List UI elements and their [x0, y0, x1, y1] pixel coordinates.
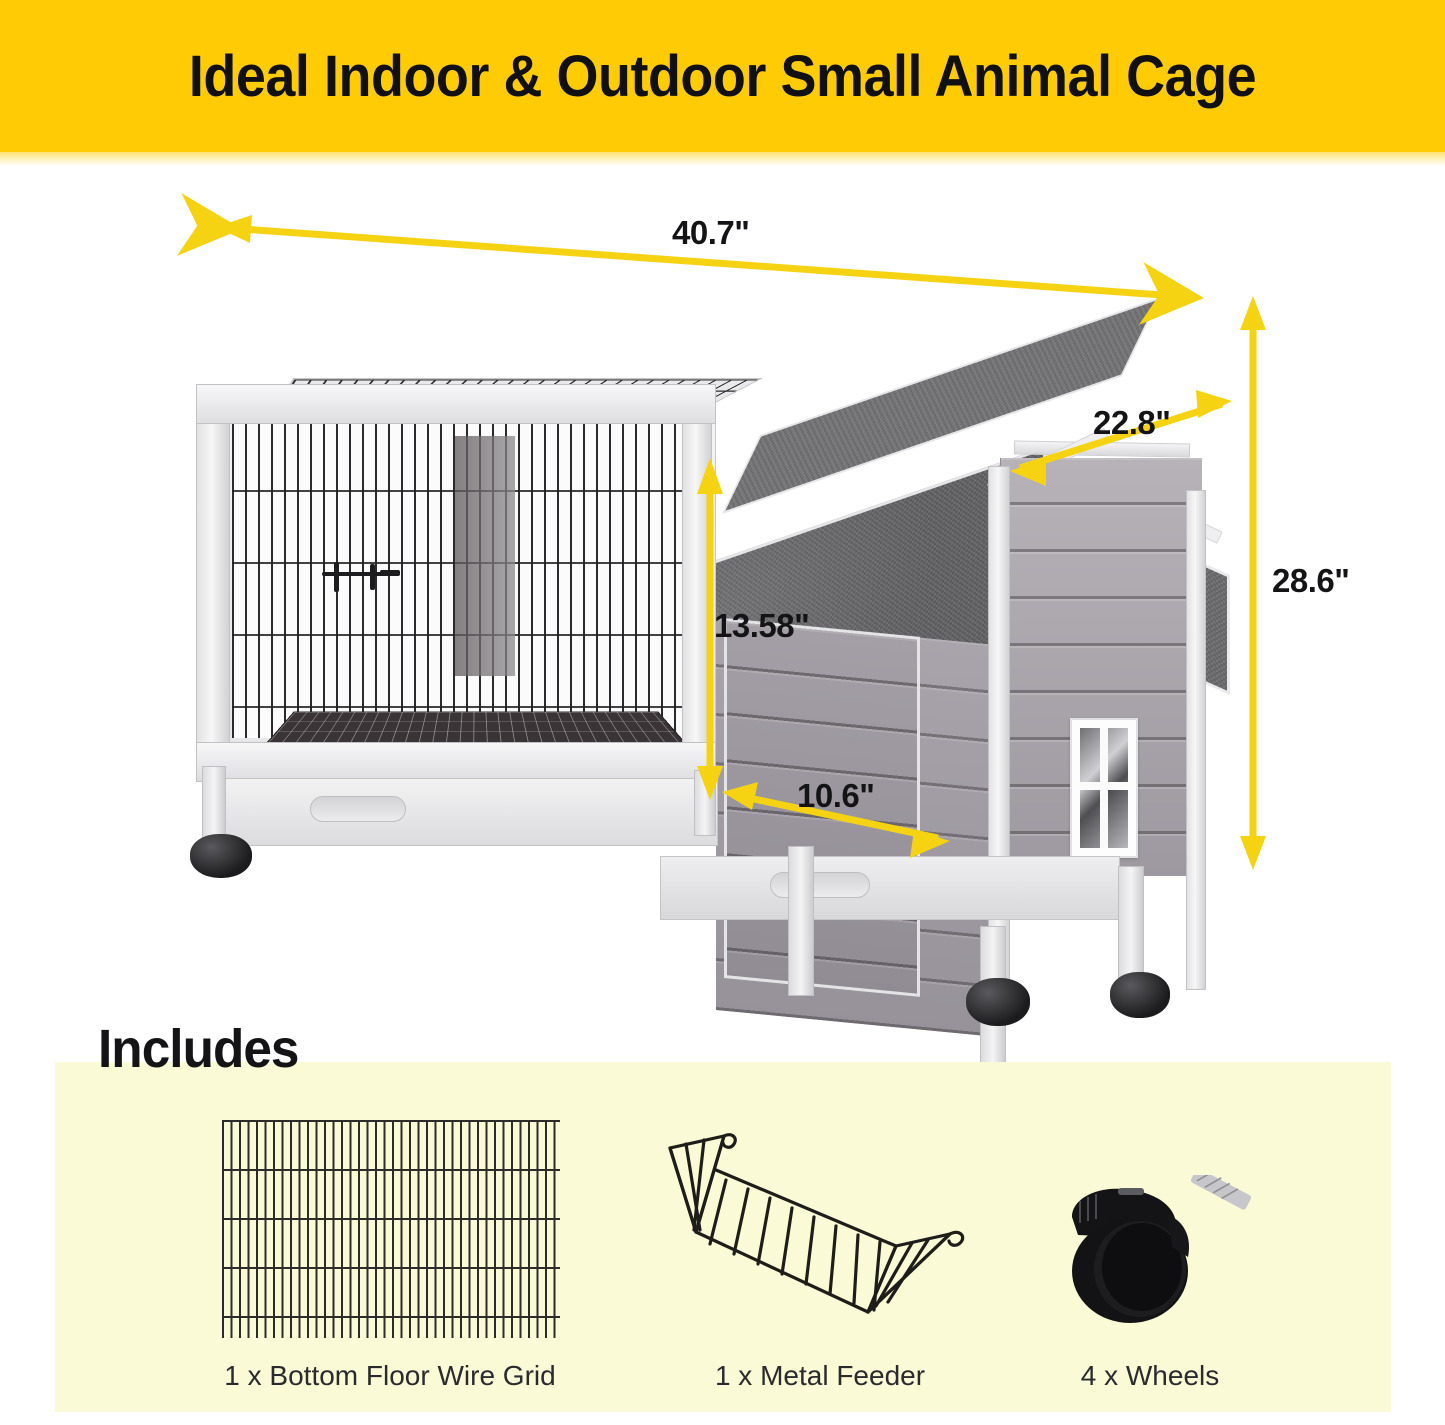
run-door-latch: [322, 562, 400, 592]
wire-grid-icon: [222, 1120, 560, 1338]
caster-front-left: [190, 834, 252, 878]
caster-front-right: [966, 978, 1030, 1026]
header-banner: Ideal Indoor & Outdoor Small Animal Cage: [0, 0, 1445, 152]
pullout-tray-front: [208, 778, 718, 846]
run-post-left: [196, 384, 230, 782]
includes-caption-0: 1 x Bottom Floor Wire Grid: [150, 1360, 630, 1392]
run-rail-bottom: [196, 742, 716, 782]
caster-rear-right: [1110, 972, 1170, 1018]
product-illustration: [0, 166, 1445, 1016]
run-post-right: [682, 406, 712, 786]
leg-rear-right: [1118, 866, 1144, 978]
leg-rear-left: [694, 770, 716, 836]
metal-feeder-icon: [660, 1130, 978, 1340]
pullout-tray-rear: [660, 856, 1120, 920]
wire-grid-horizontal-wires: [222, 1120, 560, 1338]
rabbit-hutch-graphic: [0, 166, 1445, 1016]
banner-fade: [0, 152, 1445, 166]
tray-handle-front: [310, 796, 406, 822]
window-mullion-horizontal: [1080, 782, 1128, 790]
leg-front-right: [788, 846, 814, 996]
tray-handle-rear: [770, 872, 870, 898]
includes-caption-1: 1 x Metal Feeder: [640, 1360, 1000, 1392]
run-rail-top: [196, 384, 716, 424]
includes-heading: Includes: [98, 1018, 299, 1080]
house-corner-post-right: [1186, 490, 1206, 990]
caster-wheel-icon: [1050, 1175, 1260, 1335]
run-back-divider: [455, 436, 515, 676]
leg-front-left: [202, 766, 226, 842]
page-title: Ideal Indoor & Outdoor Small Animal Cage: [51, 0, 1395, 152]
includes-caption-2: 4 x Wheels: [1000, 1360, 1300, 1392]
